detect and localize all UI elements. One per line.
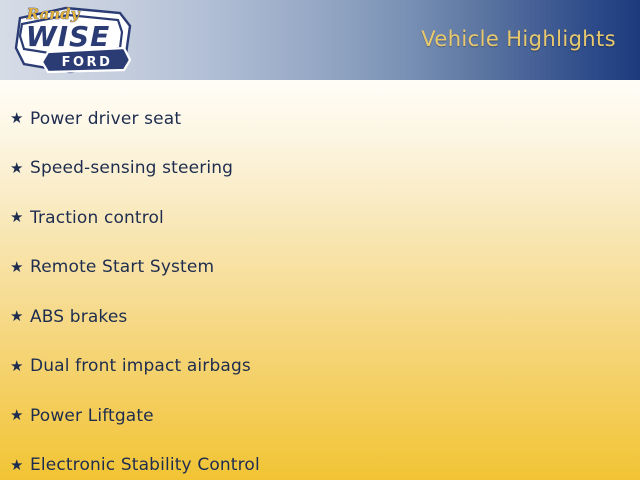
star-icon: ★ <box>8 408 30 423</box>
list-item-label: Speed-sensing steering <box>30 158 233 178</box>
list-item: ★ Electronic Stability Control <box>0 441 640 480</box>
star-icon: ★ <box>8 210 30 225</box>
list-item-label: Power Liftgate <box>30 406 154 426</box>
star-icon: ★ <box>8 359 30 374</box>
svg-text:WISE: WISE <box>26 20 111 53</box>
vehicle-highlights-page: WISE Randy FORD Vehicle Highlights ★ Pow… <box>0 0 640 480</box>
list-item-label: ABS brakes <box>30 307 127 327</box>
svg-text:FORD: FORD <box>62 55 113 70</box>
svg-text:Randy: Randy <box>26 5 81 23</box>
star-icon: ★ <box>8 260 30 275</box>
list-item-label: Traction control <box>30 208 164 228</box>
list-item: ★ Speed-sensing steering <box>0 144 640 194</box>
star-icon: ★ <box>8 161 30 176</box>
star-icon: ★ <box>8 111 30 126</box>
page-header: WISE Randy FORD Vehicle Highlights <box>0 0 640 80</box>
list-item: ★ Power Liftgate <box>0 391 640 441</box>
list-item: ★ Power driver seat <box>0 94 640 144</box>
list-item-label: Power driver seat <box>30 109 181 129</box>
list-item-label: Electronic Stability Control <box>30 455 260 475</box>
list-item: ★ Dual front impact airbags <box>0 342 640 392</box>
page-title: Vehicle Highlights <box>421 27 616 51</box>
list-item-label: Remote Start System <box>30 257 214 277</box>
list-item: ★ ABS brakes <box>0 292 640 342</box>
list-item: ★ Remote Start System <box>0 243 640 293</box>
list-item: ★ Traction control <box>0 193 640 243</box>
logo-artwork: WISE Randy FORD <box>8 2 138 80</box>
highlights-list: ★ Power driver seat ★ Speed-sensing stee… <box>0 80 640 480</box>
star-icon: ★ <box>8 458 30 473</box>
list-item-label: Dual front impact airbags <box>30 356 251 376</box>
star-icon: ★ <box>8 309 30 324</box>
randy-wise-ford-logo[interactable]: WISE Randy FORD <box>8 2 138 80</box>
